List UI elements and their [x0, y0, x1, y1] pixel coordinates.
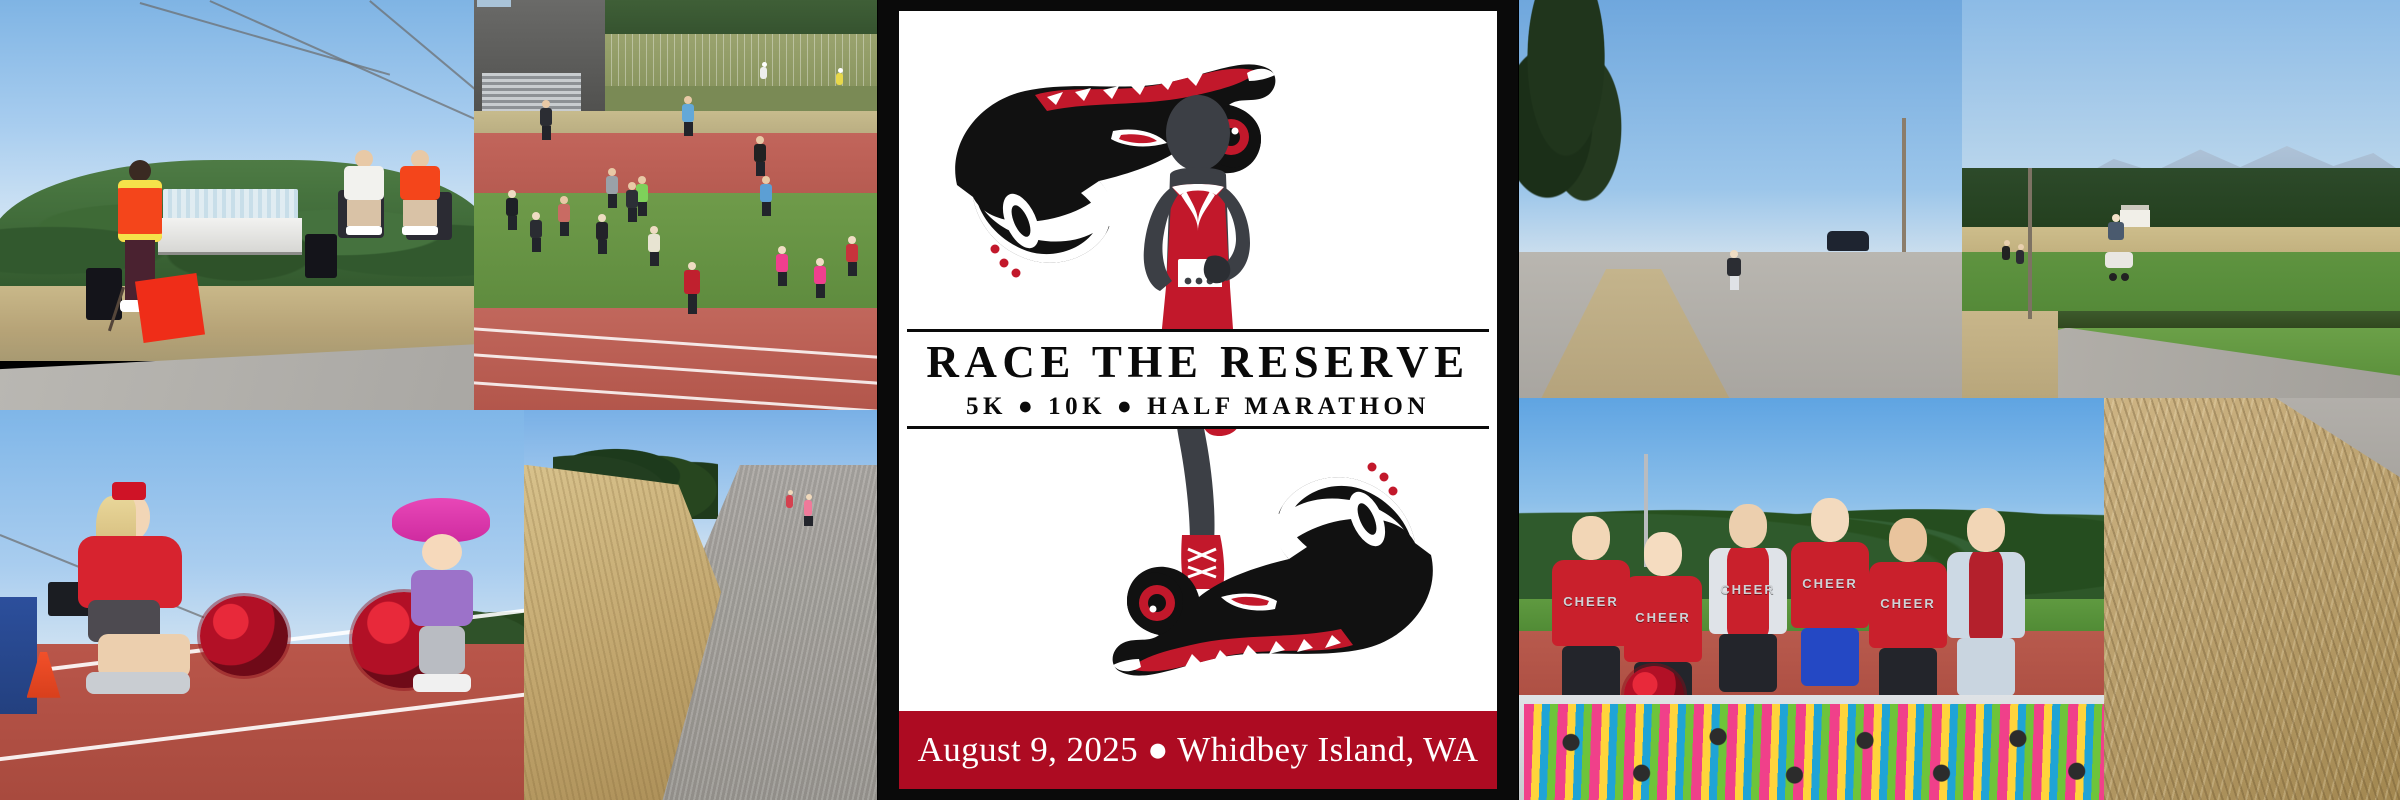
runner — [776, 246, 788, 286]
runner — [804, 494, 813, 526]
runner — [2016, 244, 2025, 264]
toddler — [392, 498, 492, 692]
photo-gravel-road-hill — [524, 410, 884, 800]
team-member — [1936, 508, 2036, 696]
runner — [786, 490, 794, 508]
runner — [596, 214, 608, 254]
runner — [530, 212, 542, 252]
dry-grass-scene — [2104, 398, 2400, 800]
runner — [760, 62, 768, 79]
road-edge — [2276, 398, 2400, 535]
finisher-medals — [1524, 704, 2112, 800]
shirt-text-cheer: CHEER — [1624, 610, 1702, 625]
runner — [754, 136, 766, 176]
building-windows — [477, 0, 511, 7]
logo-date-band: August 9, 2025 ● Whidbey Island, WA — [899, 711, 1497, 789]
cheer-team-scene: CHEER CHEER CHEER CH — [1512, 398, 2112, 800]
runner — [2002, 240, 2011, 260]
trash-bin — [305, 234, 337, 278]
runner — [506, 190, 518, 230]
utility-pole — [1902, 118, 1906, 261]
shirt-text-cheer: CHEER — [1709, 582, 1787, 597]
logo-title-band: RACE THE RESERVE 5K ● 10K ● HALF MARATHO… — [907, 329, 1489, 429]
runner — [684, 262, 700, 314]
gravel-hill-scene — [524, 410, 884, 800]
water-station-scene — [0, 0, 480, 420]
runner — [1727, 250, 1741, 290]
power-line — [210, 0, 480, 123]
bleachers — [482, 73, 580, 112]
photo-gravel-road-runner — [1512, 0, 1970, 420]
team-member: CHEER — [1702, 504, 1794, 692]
cheer-scene — [0, 410, 530, 800]
photo-farm-field-stroller — [1962, 0, 2400, 420]
track-warmup-scene — [474, 0, 884, 428]
runner — [558, 196, 570, 236]
logo-artwork: RACE THE RESERVE 5K ● 10K ● HALF MARATHO… — [899, 11, 1497, 711]
runner — [760, 176, 772, 216]
runner-with-stroller — [2108, 214, 2124, 240]
photo-dry-grass-roadside — [2104, 398, 2400, 800]
lane-line — [474, 326, 884, 362]
event-date-location: August 9, 2025 ● Whidbey Island, WA — [918, 730, 1479, 770]
seated-volunteer — [400, 150, 440, 235]
runner — [606, 168, 618, 208]
farm-field-scene — [1962, 0, 2400, 420]
upper-track — [474, 133, 884, 201]
lane-line — [474, 352, 884, 388]
race-logo-frame: RACE THE RESERVE 5K ● 10K ● HALF MARATHO… — [878, 0, 1518, 800]
hair-bow — [112, 482, 146, 500]
race-title: RACE THE RESERVE — [926, 340, 1469, 385]
photo-water-station — [0, 0, 480, 420]
photo-track-warmup — [474, 0, 884, 428]
runner — [626, 182, 638, 222]
large-tree — [1517, 0, 1627, 210]
runner — [846, 236, 858, 276]
parked-suv — [1827, 231, 1869, 251]
shirt-text-cheer: CHEER — [1791, 576, 1869, 591]
jogging-stroller — [2102, 252, 2136, 286]
race-event-banner: CHEER CHEER CHEER CH — [0, 0, 2400, 800]
water-table — [158, 218, 302, 252]
gravel-road-scene — [1512, 0, 1970, 420]
race-logo-card: RACE THE RESERVE 5K ● 10K ● HALF MARATHO… — [899, 11, 1497, 789]
race-distances: 5K ● 10K ● HALF MARATHON — [966, 394, 1430, 419]
runner — [836, 68, 844, 85]
runner — [814, 258, 826, 298]
seated-volunteer — [344, 150, 384, 235]
orca-whale-icon — [1075, 419, 1471, 705]
pom-pom — [200, 596, 288, 676]
utility-pole — [2028, 168, 2032, 319]
red-course-flag — [135, 273, 205, 343]
cheerleader — [104, 492, 150, 542]
runner — [648, 226, 660, 266]
lane-line — [0, 684, 530, 766]
runner — [540, 100, 552, 140]
runner — [682, 96, 694, 136]
photo-cheerleader-and-toddler — [0, 410, 530, 800]
photo-cheer-team-medals: CHEER CHEER CHEER CH — [1512, 398, 2112, 800]
